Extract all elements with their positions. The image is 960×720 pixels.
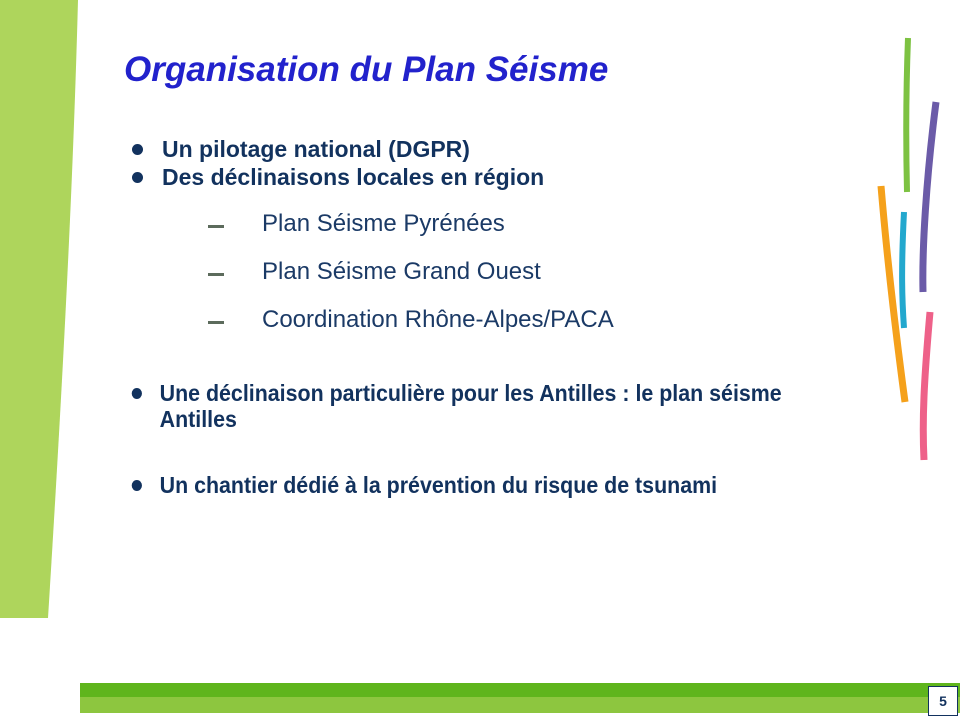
sub-bullet-item: Plan Séisme Grand Ouest [128, 258, 908, 286]
bullet-text: Un pilotage national (DGPR) [162, 136, 470, 162]
sub-bullet-text: Plan Séisme Grand Ouest [262, 258, 541, 285]
bullet-item: Une déclinaison particulière pour les An… [128, 380, 853, 432]
slide-body: Un pilotage national (DGPR) Des déclinai… [128, 136, 908, 500]
sub-bullet-text: Coordination Rhône-Alpes/PACA [262, 306, 614, 333]
page-number-badge: 5 [928, 686, 958, 716]
bullet-item: Des déclinaisons locales en région [128, 164, 908, 190]
bullet-dot-icon [132, 480, 142, 491]
purple-stroke [923, 102, 936, 292]
left-green-blade-decoration [0, 0, 90, 618]
bullet-item: Un chantier dédié à la prévention du ris… [128, 472, 853, 498]
footer-bar-light-stripe [80, 697, 960, 713]
bullet-dash-icon [208, 321, 224, 324]
bullet-dot-icon [132, 388, 142, 399]
bullet-dash-icon [208, 225, 224, 228]
page-number-text: 5 [939, 693, 947, 709]
bullet-dot-icon [132, 144, 143, 155]
bullet-dash-icon [208, 273, 224, 276]
slide-title: Organisation du Plan Séisme [124, 50, 608, 90]
footer-green-bar [80, 683, 960, 713]
bullet-text: Des déclinaisons locales en région [162, 164, 544, 190]
sub-bullet-item: Coordination Rhône-Alpes/PACA [128, 306, 908, 334]
bullet-item: Un pilotage national (DGPR) [128, 136, 908, 162]
bullet-text: Une déclinaison particulière pour les An… [160, 380, 782, 432]
bullet-text: Un chantier dédié à la prévention du ris… [160, 472, 717, 498]
spacer [128, 334, 908, 380]
spacer [128, 434, 908, 472]
footer-bar-dark-stripe [80, 683, 960, 697]
sub-bullet-item: Plan Séisme Pyrénées [128, 210, 908, 238]
bullet-dot-icon [132, 172, 143, 183]
sub-bullet-text: Plan Séisme Pyrénées [262, 210, 505, 237]
slide-canvas: Organisation du Plan Séisme Un pilotage … [0, 0, 960, 720]
pink-stroke [923, 312, 930, 460]
